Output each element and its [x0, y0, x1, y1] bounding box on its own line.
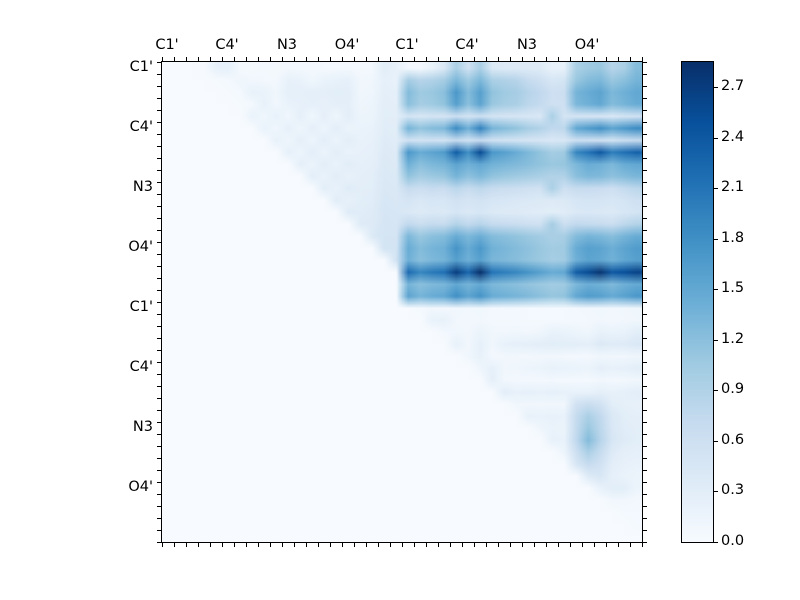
axis-tick	[642, 446, 647, 447]
axis-tick	[522, 57, 523, 62]
axis-tick	[426, 542, 427, 547]
axis-tick	[318, 57, 319, 62]
axis-tick	[157, 86, 162, 87]
axis-tick	[246, 542, 247, 547]
colorbar-tick-label: 1.8	[721, 231, 744, 246]
axis-tick	[157, 230, 162, 231]
x-tick-label: O4'	[575, 38, 600, 53]
axis-tick	[558, 57, 559, 62]
colorbar-tick	[713, 542, 718, 543]
colorbar-tick	[713, 441, 718, 442]
colorbar-tick-label: 1.2	[721, 332, 744, 347]
colorbar-tick-label: 1.5	[721, 281, 744, 296]
axis-tick	[546, 542, 547, 547]
axis-tick	[642, 434, 647, 435]
x-tick-label: C1'	[155, 38, 178, 53]
axis-tick	[157, 398, 162, 399]
axis-tick	[318, 542, 319, 547]
y-tick-label: N3	[103, 180, 153, 195]
axis-tick	[157, 98, 162, 99]
axis-tick	[522, 542, 523, 547]
axis-tick	[642, 398, 647, 399]
axis-tick	[642, 218, 647, 219]
y-tick-label: C4'	[103, 120, 153, 135]
axis-tick	[198, 57, 199, 62]
axis-tick	[157, 266, 162, 267]
axis-tick	[606, 542, 607, 547]
axis-tick	[157, 242, 162, 243]
colorbar-tick-label: 2.7	[721, 79, 744, 94]
axis-tick	[294, 542, 295, 547]
axis-tick	[157, 326, 162, 327]
axis-tick	[157, 302, 162, 303]
axis-tick	[390, 57, 391, 62]
axis-tick	[486, 542, 487, 547]
axis-tick	[534, 57, 535, 62]
axis-tick	[157, 530, 162, 531]
axis-tick	[282, 542, 283, 547]
axis-tick	[486, 57, 487, 62]
x-tick-label: N3	[517, 38, 537, 53]
colorbar-tick	[713, 138, 718, 139]
axis-tick	[594, 57, 595, 62]
axis-tick	[234, 542, 235, 547]
axis-tick	[234, 57, 235, 62]
axis-tick	[157, 446, 162, 447]
axis-tick	[378, 542, 379, 547]
x-tick-label: C4'	[215, 38, 238, 53]
axis-tick	[534, 542, 535, 547]
axis-tick	[342, 57, 343, 62]
axis-tick	[198, 542, 199, 547]
axis-tick	[642, 110, 647, 111]
axis-tick	[402, 57, 403, 62]
axis-tick	[642, 146, 647, 147]
axis-tick	[498, 542, 499, 547]
axis-tick	[157, 146, 162, 147]
axis-tick	[414, 57, 415, 62]
axis-tick	[642, 422, 647, 423]
axis-tick	[378, 57, 379, 62]
axis-tick	[157, 386, 162, 387]
y-tick-label: O4'	[103, 480, 153, 495]
axis-tick	[618, 57, 619, 62]
axis-tick	[642, 314, 647, 315]
axis-tick	[354, 542, 355, 547]
axis-tick	[157, 194, 162, 195]
axis-tick	[642, 506, 647, 507]
axis-tick	[342, 542, 343, 547]
axis-tick	[642, 374, 647, 375]
axis-tick	[162, 57, 163, 62]
axis-tick	[330, 57, 331, 62]
figure-canvas: C1'C4'N3O4'C1'C4'N3O4' C1'C4'N3O4'C1'C4'…	[0, 0, 800, 600]
axis-tick	[642, 122, 647, 123]
axis-tick	[157, 158, 162, 159]
colorbar-tick-label: 2.1	[721, 180, 744, 195]
axis-tick	[157, 134, 162, 135]
axis-tick	[157, 494, 162, 495]
axis-tick	[558, 542, 559, 547]
axis-tick	[157, 410, 162, 411]
axis-tick	[498, 57, 499, 62]
axis-tick	[474, 542, 475, 547]
axis-tick	[642, 530, 647, 531]
colorbar-axes	[681, 61, 714, 543]
colorbar-tick-label: 0.0	[721, 534, 744, 549]
axis-tick	[157, 170, 162, 171]
axis-tick	[510, 57, 511, 62]
axis-tick	[222, 57, 223, 62]
axis-tick	[157, 314, 162, 315]
y-tick-label: C1'	[103, 300, 153, 315]
axis-tick	[162, 542, 163, 547]
axis-tick	[570, 57, 571, 62]
axis-tick	[294, 57, 295, 62]
axis-tick	[414, 542, 415, 547]
axis-tick	[157, 350, 162, 351]
axis-tick	[642, 170, 647, 171]
axis-tick	[450, 57, 451, 62]
axis-tick	[462, 542, 463, 547]
axis-tick	[642, 242, 647, 243]
axis-tick	[157, 290, 162, 291]
axis-tick	[258, 57, 259, 62]
axis-tick	[642, 230, 647, 231]
axis-tick	[157, 254, 162, 255]
axis-tick	[642, 470, 647, 471]
axis-tick	[582, 542, 583, 547]
axis-tick	[438, 57, 439, 62]
axis-tick	[630, 542, 631, 547]
colorbar-tick	[713, 239, 718, 240]
axis-tick	[157, 482, 162, 483]
axis-tick	[618, 542, 619, 547]
axis-tick	[606, 57, 607, 62]
axis-tick	[306, 57, 307, 62]
colorbar-tick-label: 0.3	[721, 483, 744, 498]
axis-tick	[510, 542, 511, 547]
axis-tick	[282, 57, 283, 62]
axis-tick	[306, 542, 307, 547]
axis-tick	[642, 206, 647, 207]
axis-tick	[642, 350, 647, 351]
colorbar-tick-label: 2.4	[721, 130, 744, 145]
axis-tick	[186, 57, 187, 62]
axis-tick	[157, 74, 162, 75]
axis-tick	[642, 338, 647, 339]
heatmap-image	[162, 62, 642, 542]
axis-tick	[450, 542, 451, 547]
axis-tick	[157, 470, 162, 471]
axis-tick	[642, 494, 647, 495]
y-tick-label: O4'	[103, 240, 153, 255]
axis-tick	[642, 386, 647, 387]
axis-tick	[157, 506, 162, 507]
axis-tick	[438, 542, 439, 547]
axis-tick	[642, 302, 647, 303]
axis-tick	[157, 218, 162, 219]
colorbar-tick	[713, 188, 718, 189]
colorbar-tick	[713, 289, 718, 290]
axis-tick	[210, 57, 211, 62]
axis-tick	[546, 57, 547, 62]
colorbar-gradient-image	[682, 62, 713, 542]
axis-tick	[402, 542, 403, 547]
axis-tick	[157, 206, 162, 207]
x-tick-label: N3	[277, 38, 297, 53]
axis-tick	[246, 57, 247, 62]
axis-tick	[642, 194, 647, 195]
axis-tick	[157, 362, 162, 363]
axis-tick	[270, 57, 271, 62]
colorbar-tick	[713, 491, 718, 492]
axis-tick	[642, 278, 647, 279]
axis-tick	[642, 98, 647, 99]
y-tick-label: N3	[103, 420, 153, 435]
axis-tick	[210, 542, 211, 547]
colorbar-tick-label: 0.9	[721, 382, 744, 397]
axis-tick	[642, 326, 647, 327]
axis-tick	[642, 182, 647, 183]
axis-tick	[594, 542, 595, 547]
x-tick-label: O4'	[335, 38, 360, 53]
axis-tick	[642, 158, 647, 159]
axis-tick	[642, 482, 647, 483]
axis-tick	[157, 458, 162, 459]
axis-tick	[366, 542, 367, 547]
axis-tick	[642, 86, 647, 87]
axis-tick	[157, 374, 162, 375]
x-tick-label: C1'	[395, 38, 418, 53]
axis-tick	[222, 542, 223, 547]
axis-tick	[426, 57, 427, 62]
axis-tick	[174, 57, 175, 62]
axis-tick	[642, 74, 647, 75]
axis-tick	[354, 57, 355, 62]
axis-tick	[157, 182, 162, 183]
axis-tick	[157, 542, 162, 543]
axis-tick	[630, 57, 631, 62]
axis-tick	[157, 422, 162, 423]
axis-tick	[186, 542, 187, 547]
axis-tick	[642, 362, 647, 363]
axis-tick	[157, 518, 162, 519]
axis-tick	[157, 110, 162, 111]
axis-tick	[642, 254, 647, 255]
axis-tick	[642, 410, 647, 411]
axis-tick	[462, 57, 463, 62]
axis-tick	[366, 57, 367, 62]
axis-tick	[330, 542, 331, 547]
x-tick-label: C4'	[455, 38, 478, 53]
y-tick-label: C4'	[103, 360, 153, 375]
axis-tick	[258, 542, 259, 547]
colorbar-tick	[713, 340, 718, 341]
axis-tick	[157, 62, 162, 63]
axis-tick	[174, 542, 175, 547]
axis-tick	[157, 122, 162, 123]
axis-tick	[390, 542, 391, 547]
axis-tick	[157, 278, 162, 279]
axis-tick	[642, 458, 647, 459]
axis-tick	[642, 290, 647, 291]
colorbar-tick	[713, 87, 718, 88]
axis-tick	[570, 542, 571, 547]
y-tick-label: C1'	[103, 60, 153, 75]
axis-tick	[642, 266, 647, 267]
axis-tick	[157, 338, 162, 339]
axis-tick	[642, 62, 647, 63]
axis-tick	[270, 542, 271, 547]
axis-tick	[474, 57, 475, 62]
axis-tick	[582, 57, 583, 62]
axis-tick	[157, 434, 162, 435]
colorbar-tick	[713, 390, 718, 391]
colorbar-tick-label: 0.6	[721, 433, 744, 448]
axis-tick	[642, 134, 647, 135]
axis-tick	[642, 518, 647, 519]
axis-tick	[642, 542, 647, 543]
heatmap-axes	[161, 61, 643, 543]
